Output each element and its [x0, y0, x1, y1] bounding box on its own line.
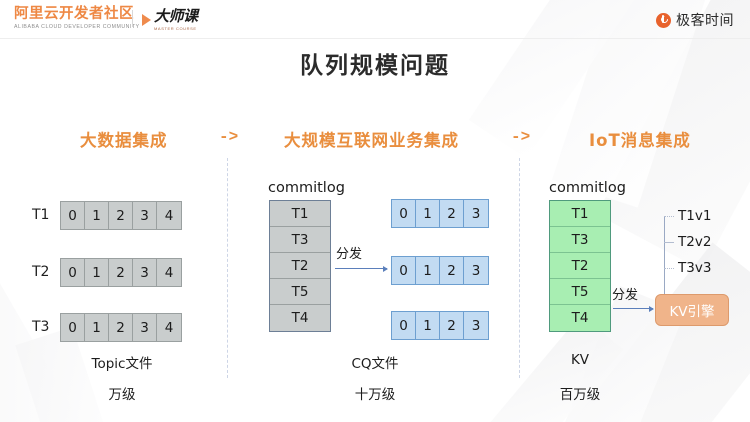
section-heading-iot: IoT消息集成: [589, 127, 691, 151]
topic-cell: 1: [85, 202, 109, 229]
master-course-label-en: MASTER COURSE: [154, 26, 198, 31]
topic-cell: 0: [61, 314, 85, 341]
topic-cell: 4: [157, 202, 181, 229]
topic-row-label-t2: T2: [32, 264, 49, 280]
section-heading-internet: 大规模互联网业务集成: [284, 127, 459, 151]
cq-row-3: 0 1 2 3: [391, 311, 489, 340]
commitlog-segment: T4: [550, 305, 610, 331]
slide-header: 阿里云开发者社区 ALIBABA CLOUD DEVELOPER COMMUNI…: [0, 0, 750, 38]
section-heading-bigdata: 大数据集成: [80, 127, 168, 151]
topic-row-t2: 0 1 2 3 4: [60, 258, 182, 287]
commitlog-segment: T2: [550, 253, 610, 279]
cq-cell: 3: [464, 257, 488, 284]
alibaba-cloud-logo: 阿里云开发者社区 ALIBABA CLOUD DEVELOPER COMMUNI…: [14, 7, 140, 30]
topic-row-label-t1: T1: [32, 207, 49, 223]
topic-row-t1: 0 1 2 3 4: [60, 201, 182, 230]
right-commitlog-stack: T1 T3 T2 T5 T4: [549, 200, 611, 332]
kv-item-t2v2: T2v2: [678, 234, 711, 250]
middle-scale: 十万级: [305, 383, 445, 403]
middle-caption: CQ文件: [305, 352, 445, 372]
cq-cell: 2: [440, 257, 464, 284]
cq-cell: 0: [392, 257, 416, 284]
geektime-logo: 极客时间: [656, 10, 734, 30]
kv-item-t3v3: T3v3: [678, 260, 711, 276]
topic-cell: 3: [133, 259, 157, 286]
right-commitlog-label: commitlog: [549, 180, 626, 196]
kv-tick-2: [664, 242, 674, 243]
left-caption: Topic文件: [52, 352, 192, 372]
topic-cell: 0: [61, 202, 85, 229]
alibaba-cloud-logo-en: ALIBABA CLOUD DEVELOPER COMMUNITY: [14, 24, 140, 30]
cq-cell: 3: [464, 200, 488, 227]
cq-cell: 3: [464, 312, 488, 339]
section-arrow-1: ->: [219, 128, 238, 146]
commitlog-segment: T2: [270, 253, 330, 279]
topic-row-label-t3: T3: [32, 319, 49, 335]
commitlog-segment: T5: [550, 279, 610, 305]
kv-bracket: [664, 216, 665, 296]
middle-commitlog-label: commitlog: [268, 180, 345, 196]
kv-item-t1v1: T1v1: [678, 208, 711, 224]
master-course-logo: 大师课 MASTER COURSE: [142, 9, 198, 31]
column-divider-1: [227, 158, 228, 378]
cq-cell: 1: [416, 257, 440, 284]
cq-cell: 1: [416, 312, 440, 339]
right-dispatch-arrow: [613, 308, 653, 309]
section-arrow-2: ->: [511, 128, 530, 146]
topic-cell: 2: [109, 314, 133, 341]
page-title: 队列规模问题: [0, 46, 750, 80]
cq-cell: 1: [416, 200, 440, 227]
middle-commitlog-stack: T1 T3 T2 T5 T4: [269, 200, 331, 332]
cq-cell: 0: [392, 312, 416, 339]
topic-cell: 2: [109, 202, 133, 229]
kv-tick-3: [664, 268, 674, 269]
cq-row-1: 0 1 2 3: [391, 199, 489, 228]
topic-cell: 2: [109, 259, 133, 286]
cq-cell: 2: [440, 312, 464, 339]
cq-row-2: 0 1 2 3: [391, 256, 489, 285]
left-scale: 万级: [52, 383, 192, 403]
logo-divider: [132, 10, 133, 27]
master-course-label-cn: 大师课: [154, 9, 198, 24]
geektime-label: 极客时间: [676, 10, 734, 30]
right-caption: KV: [540, 352, 620, 368]
topic-cell: 4: [157, 259, 181, 286]
commitlog-segment: T4: [270, 305, 330, 331]
cq-cell: 0: [392, 200, 416, 227]
right-dispatch-label: 分发: [612, 284, 638, 303]
commitlog-segment: T1: [270, 201, 330, 227]
middle-dispatch-arrow: [335, 268, 387, 269]
topic-cell: 3: [133, 314, 157, 341]
commitlog-segment: T1: [550, 201, 610, 227]
kv-tick-1: [664, 216, 674, 217]
middle-dispatch-label: 分发: [336, 243, 362, 262]
header-rule: [0, 38, 750, 39]
topic-cell: 4: [157, 314, 181, 341]
geektime-mark-icon: [656, 13, 671, 28]
commitlog-segment: T3: [270, 227, 330, 253]
commitlog-segment: T5: [270, 279, 330, 305]
cq-cell: 2: [440, 200, 464, 227]
slide-canvas: 阿里云开发者社区 ALIBABA CLOUD DEVELOPER COMMUNI…: [0, 0, 750, 422]
topic-cell: 3: [133, 202, 157, 229]
right-scale: 百万级: [540, 383, 620, 403]
topic-cell: 1: [85, 314, 109, 341]
column-divider-2: [519, 158, 520, 378]
play-triangle-icon: [142, 14, 151, 26]
topic-cell: 1: [85, 259, 109, 286]
topic-row-t3: 0 1 2 3 4: [60, 313, 182, 342]
topic-cell: 0: [61, 259, 85, 286]
alibaba-cloud-logo-cn: 阿里云开发者社区: [14, 7, 140, 22]
commitlog-segment: T3: [550, 227, 610, 253]
kv-engine-box: KV引擎: [655, 294, 729, 326]
